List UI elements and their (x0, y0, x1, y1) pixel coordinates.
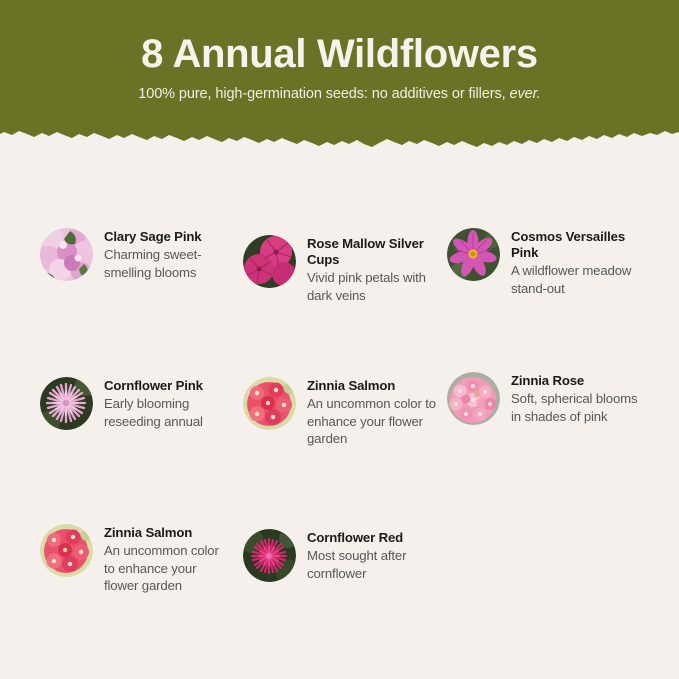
list-item-text: Rose Mallow Silver Cups Vivid pink petal… (307, 235, 438, 304)
list-item-name: Zinnia Rose (511, 373, 647, 389)
zinnia-rose-thumbnail (447, 372, 500, 425)
list-item: Cornflower Red Most sought after cornflo… (243, 529, 443, 582)
wildflower-grid: Clary Sage Pink Charming sweet-smelling … (0, 152, 679, 679)
clary-sage-pink-thumbnail (40, 228, 93, 281)
list-item: Rose Mallow Silver Cups Vivid pink petal… (243, 235, 438, 304)
subtitle-emphasis-text: ever. (510, 86, 541, 102)
list-item-text: Zinnia Salmon An uncommon color to enhan… (104, 524, 230, 595)
list-item: Zinnia Rose Soft, spherical blooms in sh… (447, 372, 647, 425)
list-item-description: Early blooming reseeding annual (104, 395, 230, 430)
list-item: Cosmos Versailles Pink A wildflower mead… (447, 228, 647, 297)
list-item-text: Zinnia Salmon An uncommon color to enhan… (307, 377, 438, 448)
list-item-name: Cosmos Versailles Pink (511, 229, 647, 261)
list-item: Zinnia Salmon An uncommon color to enhan… (40, 524, 230, 595)
page-subtitle: 100% pure, high-germination seeds: no ad… (138, 86, 540, 102)
list-item-name: Cornflower Pink (104, 378, 230, 394)
zinnia-salmon-thumbnail (40, 524, 93, 577)
list-item-text: Clary Sage Pink Charming sweet-smelling … (104, 228, 230, 281)
rose-mallow-silver-cups-thumbnail (243, 235, 296, 288)
list-item-text: Cornflower Pink Early blooming reseeding… (104, 377, 230, 430)
list-item-name: Rose Mallow Silver Cups (307, 236, 438, 268)
list-item-description: Soft, spherical blooms in shades of pink (511, 390, 647, 425)
list-item-description: A wildflower meadow stand-out (511, 262, 647, 297)
list-item-name: Cornflower Red (307, 530, 443, 546)
list-item-name: Clary Sage Pink (104, 229, 230, 245)
zinnia-salmon-thumbnail (243, 377, 296, 430)
cosmos-versailles-pink-thumbnail (447, 228, 500, 281)
list-item-description: An uncommon color to enhance your flower… (307, 395, 438, 448)
cornflower-pink-thumbnail (40, 377, 93, 430)
list-item-text: Zinnia Rose Soft, spherical blooms in sh… (511, 372, 647, 425)
list-item-name: Zinnia Salmon (307, 378, 438, 394)
subtitle-main-text: 100% pure, high-germination seeds: no ad… (138, 86, 509, 102)
list-item-description: Vivid pink petals with dark veins (307, 269, 438, 304)
list-item: Cornflower Pink Early blooming reseeding… (40, 377, 230, 430)
cornflower-red-thumbnail (243, 529, 296, 582)
list-item-description: An uncommon color to enhance your flower… (104, 542, 230, 595)
header-banner: 8 Annual Wildflowers 100% pure, high-ger… (0, 0, 679, 152)
list-item-name: Zinnia Salmon (104, 525, 230, 541)
list-item-description: Charming sweet-smelling blooms (104, 246, 230, 281)
list-item: Zinnia Salmon An uncommon color to enhan… (243, 377, 438, 448)
list-item-text: Cornflower Red Most sought after cornflo… (307, 529, 443, 582)
list-item: Clary Sage Pink Charming sweet-smelling … (40, 228, 230, 281)
page-title: 8 Annual Wildflowers (141, 33, 538, 75)
list-item-description: Most sought after cornflower (307, 547, 443, 582)
list-item-text: Cosmos Versailles Pink A wildflower mead… (511, 228, 647, 297)
